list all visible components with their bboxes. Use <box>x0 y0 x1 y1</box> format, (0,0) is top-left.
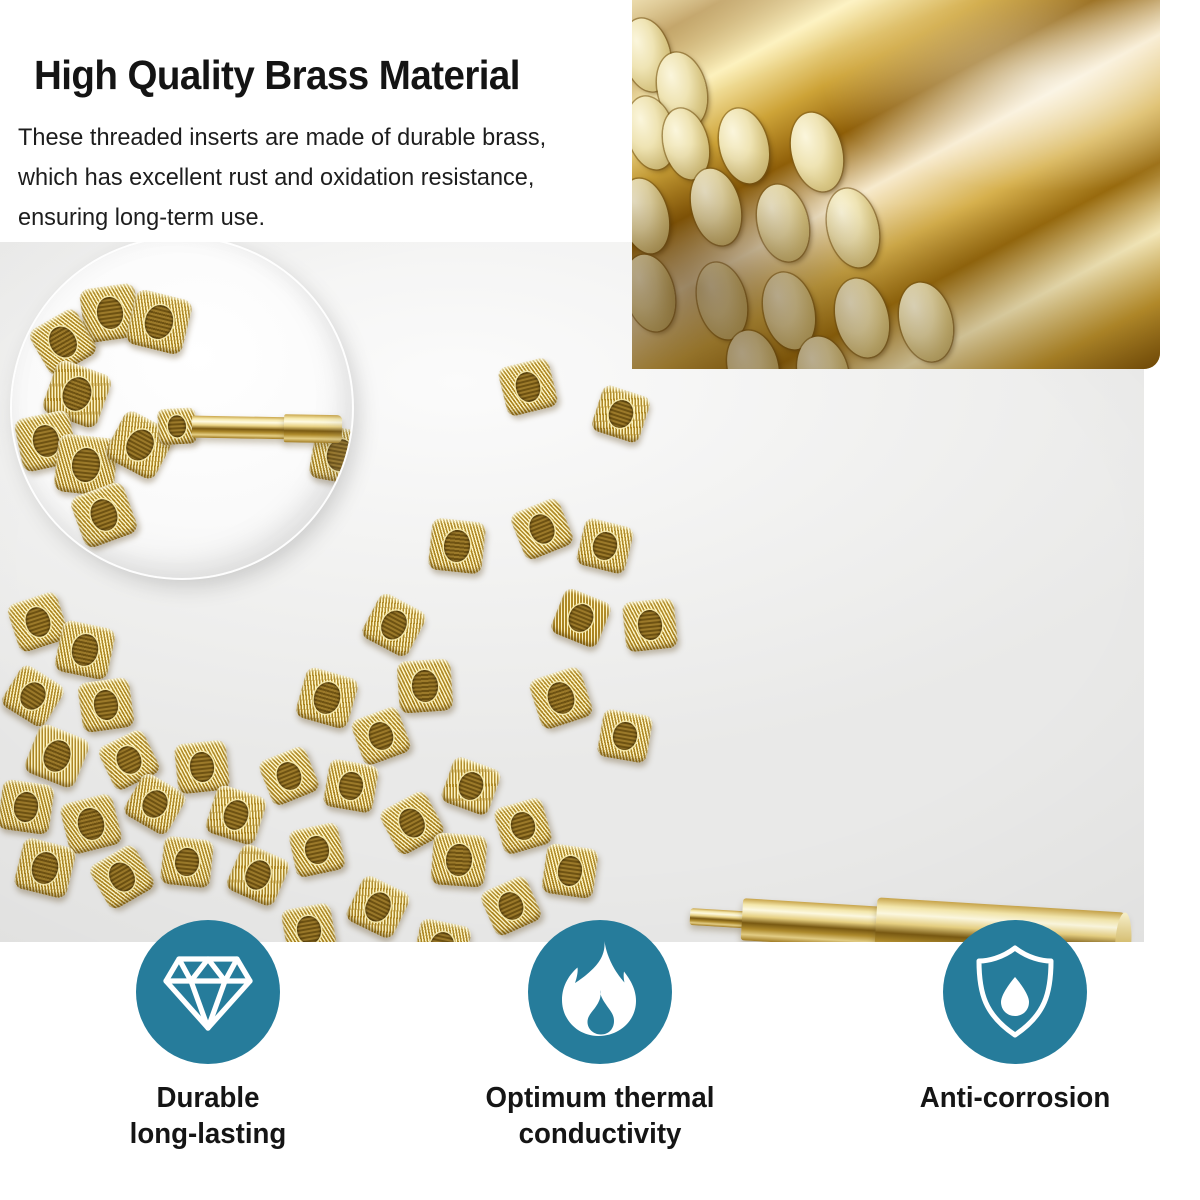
feature-label-anti-corrosion: Anti-corrosion <box>850 1080 1180 1116</box>
threaded-insert-zoomed <box>157 407 197 445</box>
feature-anti-corrosion: Anti-corrosion <box>845 920 1185 1116</box>
brass-rods-photo <box>632 0 1160 369</box>
description-line-2: which has excellent rust and oxidation r… <box>18 158 613 198</box>
description-line-3: ensuring long-term use. <box>18 198 613 238</box>
page-title: High Quality Brass Material <box>34 52 520 99</box>
feature-durable: Durable long-lasting <box>38 920 378 1152</box>
brass-installation-tool-zoomed <box>158 406 349 449</box>
feature-row: Durable long-lasting Optimum thermal con… <box>0 920 1200 1200</box>
feature-label-line2: conductivity <box>406 1116 794 1152</box>
infographic-stage: High Quality Brass Material These thread… <box>0 0 1200 1200</box>
magnifier-inset <box>12 242 352 578</box>
description-line-1: These threaded inserts are made of durab… <box>18 118 613 158</box>
feature-label-line1: Durable <box>157 1082 260 1114</box>
feature-label-thermal: Optimum thermal conductivity <box>406 1080 794 1152</box>
feature-thermal-conductivity: Optimum thermal conductivity <box>400 920 800 1152</box>
flame-icon <box>528 920 672 1064</box>
feature-label-durable: Durable long-lasting <box>43 1080 373 1152</box>
shield-droplet-icon <box>943 920 1087 1064</box>
description-text: These threaded inserts are made of durab… <box>18 118 613 238</box>
feature-label-line1: Anti-corrosion <box>920 1082 1110 1114</box>
feature-label-line2: long-lasting <box>43 1116 373 1152</box>
diamond-icon <box>136 920 280 1064</box>
threaded-insert-zoomed <box>124 288 194 356</box>
feature-label-line1: Optimum thermal <box>486 1082 715 1114</box>
brass-rods-shading <box>632 0 1160 369</box>
